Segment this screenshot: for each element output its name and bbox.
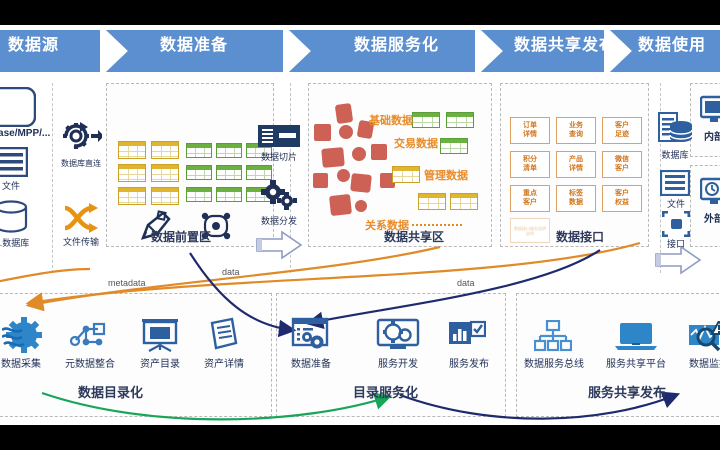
ingest-label-1: 数据库直连 bbox=[52, 158, 110, 169]
service-item-label-0: 数据准备 bbox=[286, 355, 336, 370]
share-item-label-2: 数据监控 bbox=[678, 355, 720, 370]
prep-table-y-2-0 bbox=[118, 187, 146, 205]
interface-box-line2: 查询 bbox=[569, 131, 583, 140]
interface-box-line2: 清单 bbox=[523, 165, 537, 174]
hierarchy-icon bbox=[534, 320, 572, 352]
share-blob bbox=[329, 194, 352, 216]
interface-box-faded: 数据接口服务说明说明 bbox=[510, 218, 550, 243]
catalog-item-label-3: 资产详情 bbox=[196, 355, 252, 370]
interface-box-line2: 客户 bbox=[523, 199, 537, 208]
prep-table-y-1-0 bbox=[118, 164, 146, 182]
flow-label-data-1: data bbox=[222, 267, 240, 277]
share-item-label-0: 数据服务总线 bbox=[518, 355, 590, 370]
source-label-1: ...abase/MPP/... bbox=[0, 128, 36, 139]
bottom-section-title-1: 目录服务化 bbox=[353, 382, 418, 401]
interface-box-6: 重点客户 bbox=[510, 185, 550, 212]
output-label-1: 数据库 bbox=[654, 148, 696, 161]
interface-box-line1: 积分 bbox=[523, 156, 537, 165]
source-label-2: 文件 bbox=[0, 179, 32, 192]
prep-table-g-0-0 bbox=[186, 143, 212, 158]
service-item-label-2: 服务发布 bbox=[444, 355, 494, 370]
ingest-label-2: 文件传输 bbox=[56, 235, 106, 248]
bottom-section-title-2: 服务共享发布 bbox=[588, 382, 666, 401]
stage-label-5: 数据使用 bbox=[638, 35, 706, 57]
prep-table-y-2-1 bbox=[151, 187, 179, 205]
gear-arrow-icon bbox=[58, 118, 102, 154]
interface-box-0: 订单详情 bbox=[510, 117, 550, 144]
slice-bars-icon bbox=[258, 125, 300, 147]
prep-table-y-0-1 bbox=[151, 141, 179, 159]
prep-table-g-0-1 bbox=[216, 143, 242, 158]
prep-table-y-1-1 bbox=[151, 164, 179, 182]
interface-box-line1: 客户 bbox=[615, 122, 629, 131]
share-dotted-divider bbox=[412, 224, 462, 226]
interface-box-line1: 业务 bbox=[569, 122, 583, 131]
share-blob bbox=[350, 173, 372, 193]
chart-check-icon bbox=[448, 320, 486, 352]
share-blob bbox=[335, 103, 353, 124]
prep-zone-title: 数据前置区 bbox=[151, 228, 211, 245]
monitor-internal-icon bbox=[700, 95, 720, 125]
share-blob bbox=[355, 200, 367, 212]
share-blob bbox=[321, 147, 345, 168]
interface-box-3: 积分清单 bbox=[510, 151, 550, 178]
rounded-box-icon bbox=[0, 87, 36, 127]
gear-window-icon bbox=[291, 317, 329, 353]
share-table-yellow-1 bbox=[418, 193, 446, 210]
letterbox-bottom bbox=[0, 425, 720, 450]
share-blob bbox=[314, 124, 331, 141]
laptop-icon bbox=[614, 322, 658, 352]
wave-gear-icon bbox=[2, 317, 44, 353]
interface-box-line1: 标签 bbox=[569, 190, 583, 199]
stage-label-2: 数据准备 bbox=[160, 35, 228, 57]
monitor-external-icon bbox=[700, 177, 720, 207]
consumer-label-external: 外部 bbox=[694, 210, 720, 225]
interface-box-8: 客户权益 bbox=[602, 185, 642, 212]
stage-label-3: 数据服务化 bbox=[354, 35, 439, 57]
prep-table-g-1-0 bbox=[186, 165, 212, 180]
catalog-item-label-2: 资产目录 bbox=[132, 355, 188, 370]
chevron-separator-2 bbox=[283, 30, 317, 72]
interface-box-line1: 产品 bbox=[569, 156, 583, 165]
mid-label-1: 数据切片 bbox=[254, 150, 304, 163]
block-arrow-right-icon bbox=[655, 245, 703, 275]
bottom-section-title-0: 数据目录化 bbox=[78, 382, 143, 401]
interface-box-4: 产品详情 bbox=[556, 151, 596, 178]
output-label-2: 文件 bbox=[655, 197, 697, 210]
diagram-screenshot: 数据源 数据准备 数据服务化 数据共享发布 数据使用 ...abase/MPP/… bbox=[0, 0, 720, 450]
shuffle-arrows-icon bbox=[62, 203, 98, 233]
chevron-separator-1 bbox=[100, 30, 134, 72]
letterbox-top bbox=[0, 0, 720, 25]
interface-box-1: 业务查询 bbox=[556, 117, 596, 144]
block-arrow-right-icon bbox=[256, 229, 304, 261]
share-item-label-1: 服务共享平台 bbox=[600, 355, 672, 370]
share-table-green-0 bbox=[412, 112, 440, 128]
catalog-item-label-1: 元数据整合 bbox=[59, 355, 121, 370]
prep-table-g-2-0 bbox=[186, 187, 212, 202]
file-lines-icon bbox=[660, 170, 690, 196]
stage-label-1: 数据源 bbox=[8, 35, 59, 57]
prep-table-g-1-2 bbox=[246, 165, 272, 180]
share-blob bbox=[337, 169, 350, 182]
share-label-transaction: 交易数据 bbox=[394, 135, 438, 151]
interface-box-line2: 详情 bbox=[569, 165, 583, 174]
share-blob bbox=[371, 144, 387, 160]
interface-box-line1: 订单 bbox=[523, 122, 537, 131]
board-icon bbox=[141, 318, 179, 352]
catalog-item-label-0: 数据采集 bbox=[0, 355, 51, 370]
share-table-yellow-2 bbox=[450, 193, 478, 210]
interface-box-line2: 客户 bbox=[615, 165, 629, 174]
flow-label-data-2: data bbox=[457, 278, 475, 288]
interface-box-2: 客户足迹 bbox=[602, 117, 642, 144]
chevron-separator-3 bbox=[475, 30, 509, 72]
share-table-yellow-0 bbox=[392, 166, 420, 183]
interface-box-5: 微信客户 bbox=[602, 151, 642, 178]
share-blob bbox=[339, 125, 353, 139]
interface-box-line1: 客户 bbox=[615, 190, 629, 199]
share-table-green-2 bbox=[440, 138, 468, 154]
share-blob bbox=[313, 173, 328, 188]
share-table-green-1 bbox=[446, 112, 474, 128]
stage-label-4: 数据共享发布 bbox=[514, 35, 616, 57]
interface-box-line2: 详情 bbox=[523, 131, 537, 140]
search-alert-icon bbox=[688, 321, 720, 353]
interface-box-line2: 数据 bbox=[569, 199, 583, 208]
document-lines-icon bbox=[206, 317, 240, 351]
share-zone-title: 数据共享区 bbox=[384, 228, 444, 245]
interface-box-line2: 足迹 bbox=[615, 131, 629, 140]
interface-box-7: 标签数据 bbox=[556, 185, 596, 212]
share-label-basic: 基础数据 bbox=[369, 112, 413, 128]
interface-box-line2: 说明 bbox=[526, 231, 534, 236]
interface-box-line1: 微信 bbox=[615, 156, 629, 165]
prep-table-g-2-1 bbox=[216, 187, 242, 202]
monitor-gears-icon bbox=[376, 318, 420, 353]
diagram-canvas: 数据源 数据准备 数据服务化 数据共享发布 数据使用 ...abase/MPP/… bbox=[0, 25, 720, 425]
interface-zone-title: 数据接口 bbox=[556, 228, 604, 245]
source-label-3: ...数据库 bbox=[0, 236, 40, 249]
file-lines-icon bbox=[0, 147, 28, 177]
interface-box-line2: 权益 bbox=[615, 199, 629, 208]
consumer-label-internal: 内部 bbox=[694, 128, 720, 143]
service-item-label-1: 服务开发 bbox=[373, 355, 423, 370]
interface-box-line1: 重点 bbox=[523, 190, 537, 199]
mid-label-2: 数据分发 bbox=[254, 214, 304, 227]
database-cylinder-icon bbox=[0, 200, 28, 234]
gears-icon bbox=[259, 180, 299, 212]
share-blob bbox=[352, 147, 366, 161]
share-label-management: 管理数据 bbox=[424, 167, 468, 183]
interface-node-icon bbox=[662, 211, 690, 237]
flow-label-metadata: metadata bbox=[108, 278, 146, 288]
prep-table-y-0-0 bbox=[118, 141, 146, 159]
prep-table-g-1-1 bbox=[216, 165, 242, 180]
source-column-divider bbox=[52, 83, 53, 273]
node-graph-icon bbox=[70, 320, 108, 352]
database-docs-icon bbox=[655, 111, 695, 147]
